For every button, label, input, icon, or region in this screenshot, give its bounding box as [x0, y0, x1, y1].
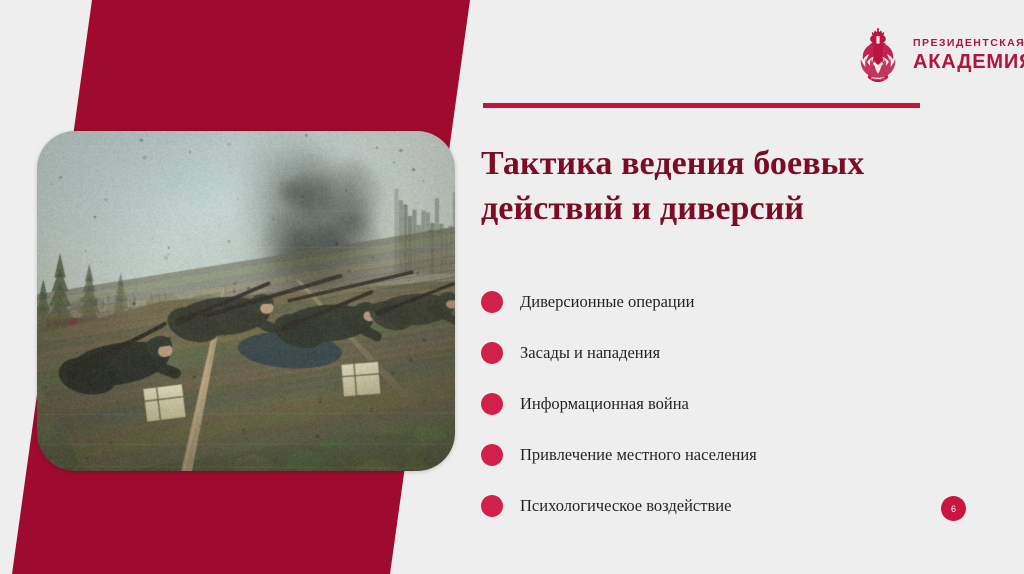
bullet-dot-icon [481, 393, 503, 415]
list-item: Диверсионные операции [481, 276, 1001, 327]
bullet-dot-icon [481, 291, 503, 313]
logo-line-2: АКАДЕМИЯ [913, 52, 1024, 72]
bullet-dot-icon [481, 342, 503, 364]
bullet-dot-icon [481, 495, 503, 517]
list-item-label: Психологическое воздействие [520, 496, 731, 516]
logo-line-1: ПРЕЗИДЕНТСКАЯ [913, 38, 1024, 49]
list-item: Привлечение местного населения [481, 429, 1001, 480]
bullet-dot-icon [481, 444, 503, 466]
list-item: Психологическое воздействие [481, 480, 1001, 531]
bullet-list: Диверсионные операции Засады и нападения… [481, 276, 1001, 531]
list-item-label: Засады и нападения [520, 343, 660, 363]
logo-wordmark: ПРЕЗИДЕНТСКАЯ АКАДЕМИЯ [913, 38, 1024, 72]
presidential-academy-emblem-icon: РАНХиГС [852, 28, 904, 82]
presentation-slide: РАНХиГС ПРЕЗИДЕНТСКАЯ АКАДЕМИЯ Тактика в… [0, 0, 1024, 574]
brand-logo: РАНХиГС ПРЕЗИДЕНТСКАЯ АКАДЕМИЯ [852, 26, 992, 84]
list-item-label: Диверсионные операции [520, 292, 694, 312]
title-divider-rule [483, 103, 920, 108]
list-item: Информационная война [481, 378, 1001, 429]
page-title: Тактика ведения боевых действий и диверс… [481, 142, 911, 232]
list-item: Засады и нападения [481, 327, 1001, 378]
photo-canvas [37, 131, 455, 471]
page-number-badge: 6 [941, 496, 966, 521]
list-item-label: Информационная война [520, 394, 689, 414]
historical-photo [37, 131, 455, 471]
svg-text:РАНХиГС: РАНХиГС [871, 76, 886, 80]
list-item-label: Привлечение местного населения [520, 445, 757, 465]
